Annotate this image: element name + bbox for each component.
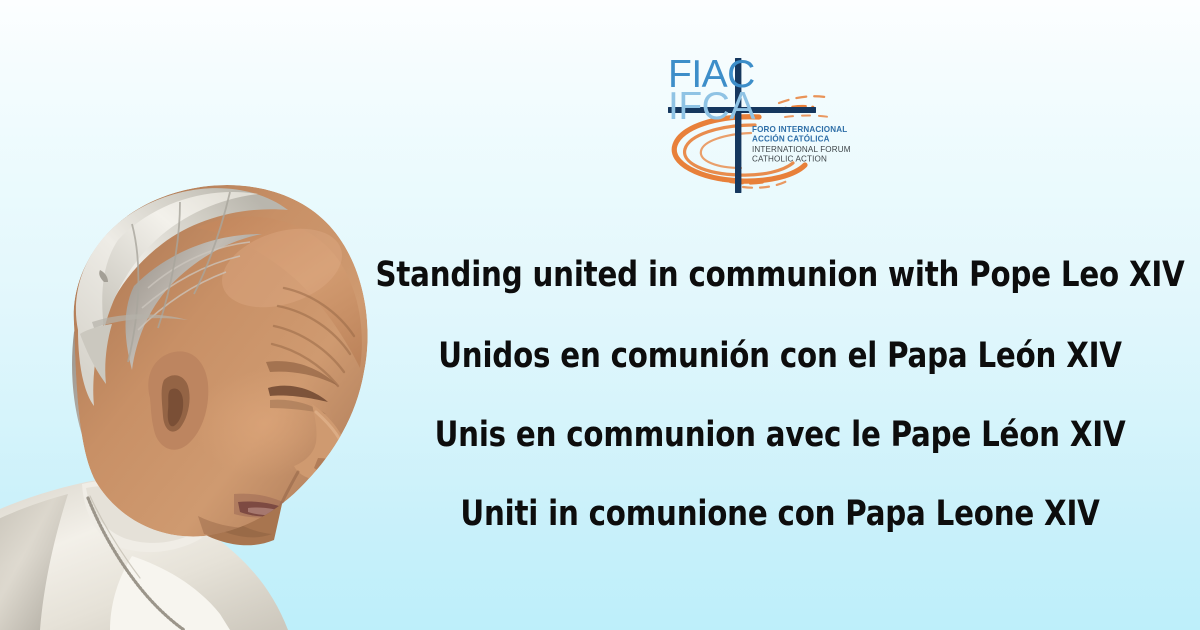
slogan-french: Unis en communion avec le Pape Léon XIV <box>362 418 1199 453</box>
logo-tagline-en-line2: CATHOLIC ACTION <box>752 155 827 164</box>
slogan-italian: Uniti in comunione con Papa Leone XIV <box>362 497 1199 532</box>
portrait-cassock <box>0 478 288 630</box>
logo-tagline-es-line1: FORO INTERNACIONAL <box>752 125 847 134</box>
slogan-english: Standing united in communion with Pope L… <box>362 258 1199 293</box>
portrait-ear <box>148 351 208 449</box>
poster-canvas: FIAC IFCA FORO INTERNACIONAL ACCIÓN CATÓ… <box>0 0 1200 630</box>
slogan-block: Standing united in communion with Pope L… <box>330 258 1200 532</box>
portrait-zucchetto <box>76 188 288 406</box>
portrait-eye <box>268 386 328 414</box>
logo-acronym-bottom: IFCA <box>668 85 755 128</box>
slogan-spanish: Unidos en comunión con el Papa León XIV <box>362 339 1199 374</box>
portrait-hair <box>72 292 164 522</box>
portrait-hair-front <box>126 234 263 370</box>
fiac-ifca-logo: FIAC IFCA FORO INTERNACIONAL ACCIÓN CATÓ… <box>655 45 855 193</box>
portrait-face <box>74 185 368 538</box>
logo-tagline-es-line2: ACCIÓN CATÓLICA <box>752 135 830 144</box>
portrait-neck <box>132 388 282 545</box>
logo-tagline-en-line1: INTERNATIONAL FORUM <box>752 145 851 154</box>
portrait-mouth <box>234 494 298 518</box>
